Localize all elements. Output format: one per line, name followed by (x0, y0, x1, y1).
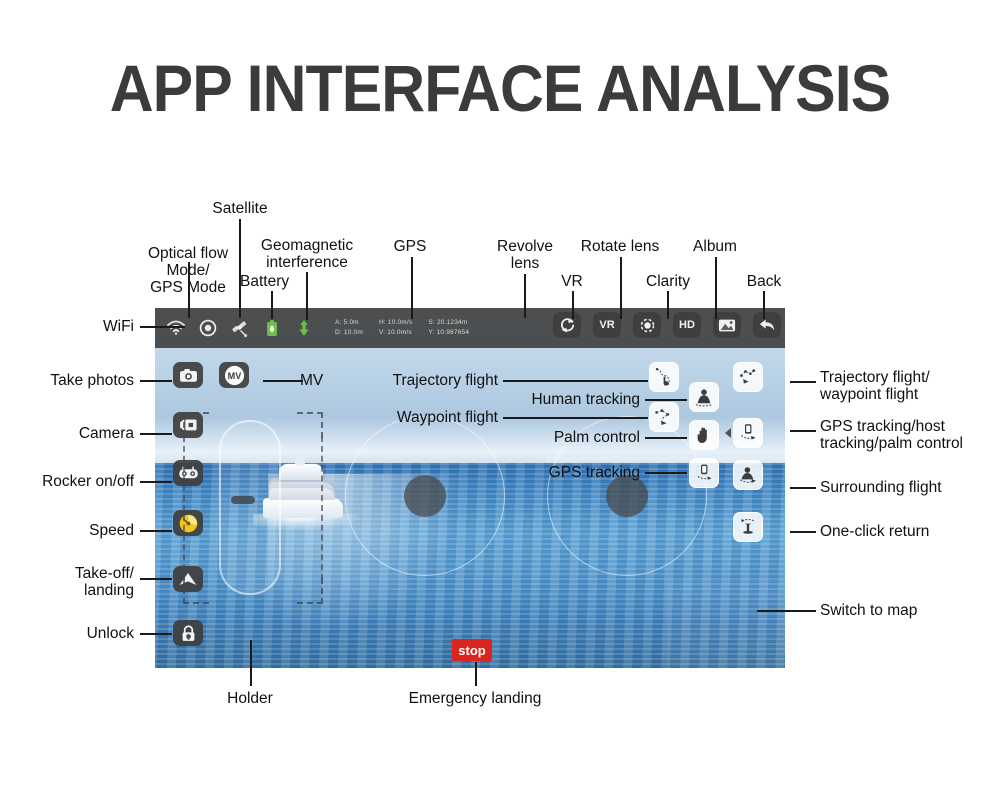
leader-one-click-return (790, 531, 816, 533)
focus-bracket-top-left (183, 412, 209, 438)
callout-vr: VR (552, 273, 592, 290)
leader-palm-control (645, 437, 687, 439)
unlock-button[interactable] (173, 620, 203, 646)
focus-brackets (183, 412, 323, 604)
callout-gps-tracking: GPS tracking (505, 464, 640, 481)
leader-human-tracking (645, 399, 687, 401)
leader-camera (140, 433, 172, 435)
callout-switch-to-map: Switch to map (820, 602, 1000, 619)
leader-switch-to-map (757, 610, 816, 612)
waypoint-flight-button-right[interactable] (733, 362, 763, 392)
leader-holder (250, 640, 252, 686)
callout-geomagnetic: Geomagnetic interference (242, 237, 372, 271)
waypoint-flight-button[interactable] (649, 402, 679, 432)
telemetry-readout: A: 5.0m D: 10.0m H: 10.0m/s V: 10.0m/s S… (335, 318, 469, 338)
callout-speed: Speed (40, 522, 134, 539)
take-photos-button[interactable] (173, 362, 203, 388)
leader-geomagnetic (306, 272, 308, 320)
callout-holder: Holder (195, 690, 305, 707)
wifi-icon[interactable] (161, 313, 191, 343)
leader-clarity (667, 291, 669, 319)
trajectory-flight-button[interactable] (649, 362, 679, 392)
focus-bracket-right-edge (321, 436, 323, 580)
callout-takeoff: Take-off/ landing (30, 565, 134, 599)
callout-wifi: WiFi (30, 318, 134, 335)
callout-clarity: Clarity (633, 273, 703, 290)
leader-mv (263, 380, 303, 382)
callout-satellite: Satellite (185, 200, 295, 217)
callout-waypoint-flight: Waypoint flight (360, 409, 498, 426)
leader-surrounding-flight (790, 487, 816, 489)
telemetry-latitude: S: 20.1234m (428, 318, 469, 328)
callout-surrounding-flight: Surrounding flight (820, 479, 1000, 496)
callout-back: Back (735, 273, 793, 290)
gps-tracking-button[interactable] (689, 458, 719, 488)
leader-vr (572, 291, 574, 319)
optical-flow-mode-icon[interactable] (193, 313, 223, 343)
leader-take-photos (140, 380, 172, 382)
leader-takeoff (140, 578, 172, 580)
leader-back (763, 291, 765, 319)
revolve-lens-button[interactable] (553, 312, 581, 338)
leader-emergency-landing (475, 662, 477, 686)
telemetry-h-speed: H: 10.0m/s (379, 318, 412, 328)
focus-bracket-left-edge (183, 436, 185, 580)
status-bar: A: 5.0m D: 10.0m H: 10.0m/s V: 10.0m/s S… (155, 308, 785, 348)
clarity-button[interactable]: HD (673, 312, 701, 338)
page-title: APP INTERFACE ANALYSIS (40, 50, 960, 126)
app-video-screen: A: 5.0m D: 10.0m H: 10.0m/s V: 10.0m/s S… (155, 308, 785, 668)
back-button[interactable] (753, 312, 781, 338)
vr-button[interactable]: VR (593, 312, 621, 338)
callout-battery: Battery (240, 273, 335, 290)
svg-text:MV: MV (227, 370, 241, 380)
callout-trajectory-flight: Trajectory flight (360, 372, 498, 389)
one-click-return-button[interactable] (733, 512, 763, 542)
surrounding-flight-button[interactable] (733, 460, 763, 490)
callout-take-photos: Take photos (10, 372, 134, 389)
leader-optical-flow (188, 262, 190, 318)
telemetry-v-speed: V: 10.0m/s (379, 328, 412, 338)
callout-unlock: Unlock (35, 625, 134, 642)
leader-album (715, 257, 717, 319)
leader-revolve-lens (524, 274, 526, 318)
leader-wifi (140, 326, 185, 328)
telemetry-col-1: A: 5.0m D: 10.0m (335, 318, 363, 338)
focus-bracket-bottom-right (297, 578, 323, 604)
callout-mv: MV (300, 372, 360, 389)
callout-camera: Camera (20, 425, 134, 442)
callout-trajectory-waypoint: Trajectory flight/ waypoint flight (820, 369, 995, 403)
leader-speed (140, 530, 172, 532)
leader-trajectory-waypoint (790, 381, 816, 383)
flight-mode-expand-arrow-icon[interactable] (725, 428, 731, 438)
callout-emergency-landing: Emergency landing (385, 690, 565, 707)
leader-gps-tracking (645, 472, 687, 474)
telemetry-longitude: Y: 10.987654 (428, 328, 469, 338)
telemetry-col-3: S: 20.1234m Y: 10.987654 (428, 318, 469, 338)
callout-rotate-lens: Rotate lens (564, 238, 676, 255)
geomagnetic-interference-icon[interactable] (289, 313, 319, 343)
map-switch-region[interactable] (667, 580, 785, 668)
left-joystick[interactable] (404, 475, 446, 517)
callout-palm-control: Palm control (505, 429, 640, 446)
callout-rocker: Rocker on/off (5, 473, 134, 490)
leader-gps (411, 257, 413, 319)
leader-waypoint-flight (503, 417, 648, 419)
focus-bracket-top-right (297, 412, 323, 438)
callout-gps-host-palm: GPS tracking/host tracking/palm control (820, 418, 1000, 452)
telemetry-altitude: A: 5.0m (335, 318, 363, 328)
human-tracking-button[interactable] (689, 382, 719, 412)
callout-human-tracking: Human tracking (490, 391, 640, 408)
leader-gps-host-palm (790, 430, 816, 432)
leader-rocker (140, 481, 172, 483)
rotate-lens-button[interactable] (633, 312, 661, 338)
callout-album: Album (680, 238, 750, 255)
leader-battery (271, 291, 273, 319)
leader-trajectory-flight (503, 380, 648, 382)
leader-unlock (140, 633, 172, 635)
telemetry-col-2: H: 10.0m/s V: 10.0m/s (379, 318, 412, 338)
callout-gps: GPS (375, 238, 445, 255)
callout-revolve-lens: Revolve lens (482, 238, 568, 272)
host-tracking-button[interactable] (733, 418, 763, 448)
emergency-landing-stop-button[interactable]: stop (452, 639, 492, 661)
right-joystick[interactable] (606, 475, 648, 517)
album-button[interactable] (713, 312, 741, 338)
callout-one-click-return: One-click return (820, 523, 1000, 540)
focus-bracket-bottom-left (183, 578, 209, 604)
mv-button[interactable]: MV (219, 362, 249, 388)
telemetry-distance: D: 10.0m (335, 328, 363, 338)
leader-satellite (239, 219, 241, 318)
leader-rotate-lens (620, 257, 622, 319)
palm-control-button[interactable] (689, 420, 719, 450)
